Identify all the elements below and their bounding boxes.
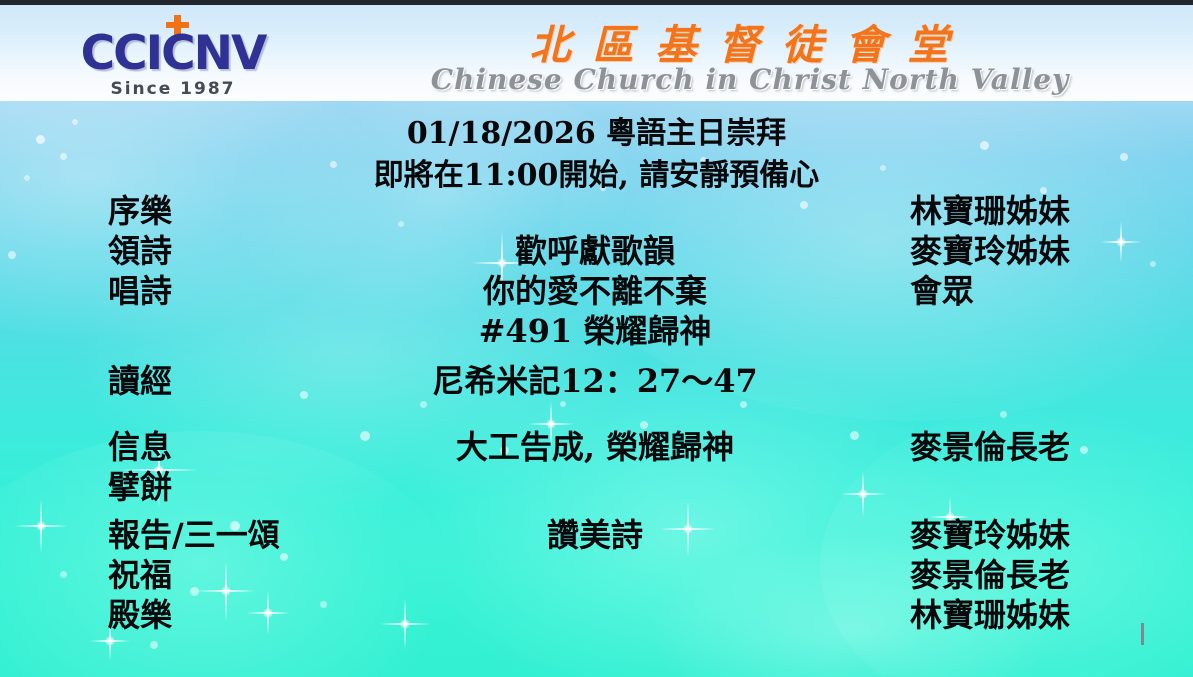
program-item-person: 會眾	[910, 271, 974, 311]
program-item-label: 領詩	[108, 231, 172, 271]
program-row: 報告/三一頌 讚美詩 麥寶玲姊妹	[0, 515, 1193, 555]
program-item-label: 報告/三一頌	[108, 515, 280, 555]
logo-tagline: Since 1987	[58, 79, 288, 99]
program-item-person: 林寶珊姊妹	[910, 595, 1070, 635]
program-item-person: 麥景倫長老	[910, 555, 1070, 595]
program-item-label: 序樂	[108, 191, 172, 231]
slide-title-line-1: 01/18/2026 粵語主日崇拜	[0, 108, 1193, 152]
program-item-label: 信息	[108, 427, 172, 467]
program-row: 祝福 麥景倫長老	[0, 555, 1193, 595]
program-item-label: 讀經	[108, 361, 172, 401]
presentation-slide: CCICNV Since 1987 北區基督徒會堂 Chinese Church…	[0, 0, 1193, 677]
service-program: 01/18/2026 粵語主日崇拜 即將在11:00開始, 請安靜預備心 序樂 …	[0, 101, 1193, 677]
text-caret	[1141, 623, 1144, 645]
program-row: #491 榮耀歸神	[0, 311, 1193, 351]
window-top-bar	[0, 0, 1193, 5]
program-item-detail: 讚美詩	[340, 515, 850, 555]
program-item-person: 麥寶玲姊妹	[910, 231, 1070, 271]
church-logo: CCICNV Since 1987	[58, 13, 288, 99]
church-name-chinese: 北區基督徒會堂	[395, 11, 1105, 71]
program-row: 擘餅	[0, 467, 1193, 507]
program-item-person: 麥寶玲姊妹	[910, 515, 1070, 555]
program-item-label: 擘餅	[108, 467, 172, 507]
slide-header-banner: CCICNV Since 1987 北區基督徒會堂 Chinese Church…	[0, 5, 1193, 101]
program-row: 唱詩 你的愛不離不棄 會眾	[0, 271, 1193, 311]
program-item-person: 林寶珊姊妹	[910, 191, 1070, 231]
slide-body: 01/18/2026 粵語主日崇拜 即將在11:00開始, 請安靜預備心 序樂 …	[0, 101, 1193, 677]
program-item-label: 唱詩	[108, 271, 172, 311]
program-item-detail: 歡呼獻歌韻	[340, 231, 850, 271]
program-item-label: 祝福	[108, 555, 172, 595]
program-item-detail: #491 榮耀歸神	[340, 311, 850, 351]
program-row: 領詩 歡呼獻歌韻 麥寶玲姊妹	[0, 231, 1193, 271]
program-item-detail: 你的愛不離不棄	[340, 271, 850, 311]
program-item-detail: 大工告成, 榮耀歸神	[340, 427, 850, 467]
slide-title-line-2: 即將在11:00開始, 請安靜預備心	[0, 150, 1193, 194]
program-row: 信息 大工告成, 榮耀歸神 麥景倫長老	[0, 427, 1193, 467]
church-name-english: Chinese Church in Christ North Valley	[350, 63, 1150, 96]
program-row: 殿樂 林寶珊姊妹	[0, 595, 1193, 635]
program-item-label: 殿樂	[108, 595, 172, 635]
program-item-person: 麥景倫長老	[910, 427, 1070, 467]
program-row: 讀經 尼希米記12：27～47	[0, 361, 1193, 401]
program-item-detail: 尼希米記12：27～47	[340, 361, 850, 401]
program-row: 序樂 林寶珊姊妹	[0, 191, 1193, 231]
logo-wordmark: CCICNV	[58, 30, 288, 77]
